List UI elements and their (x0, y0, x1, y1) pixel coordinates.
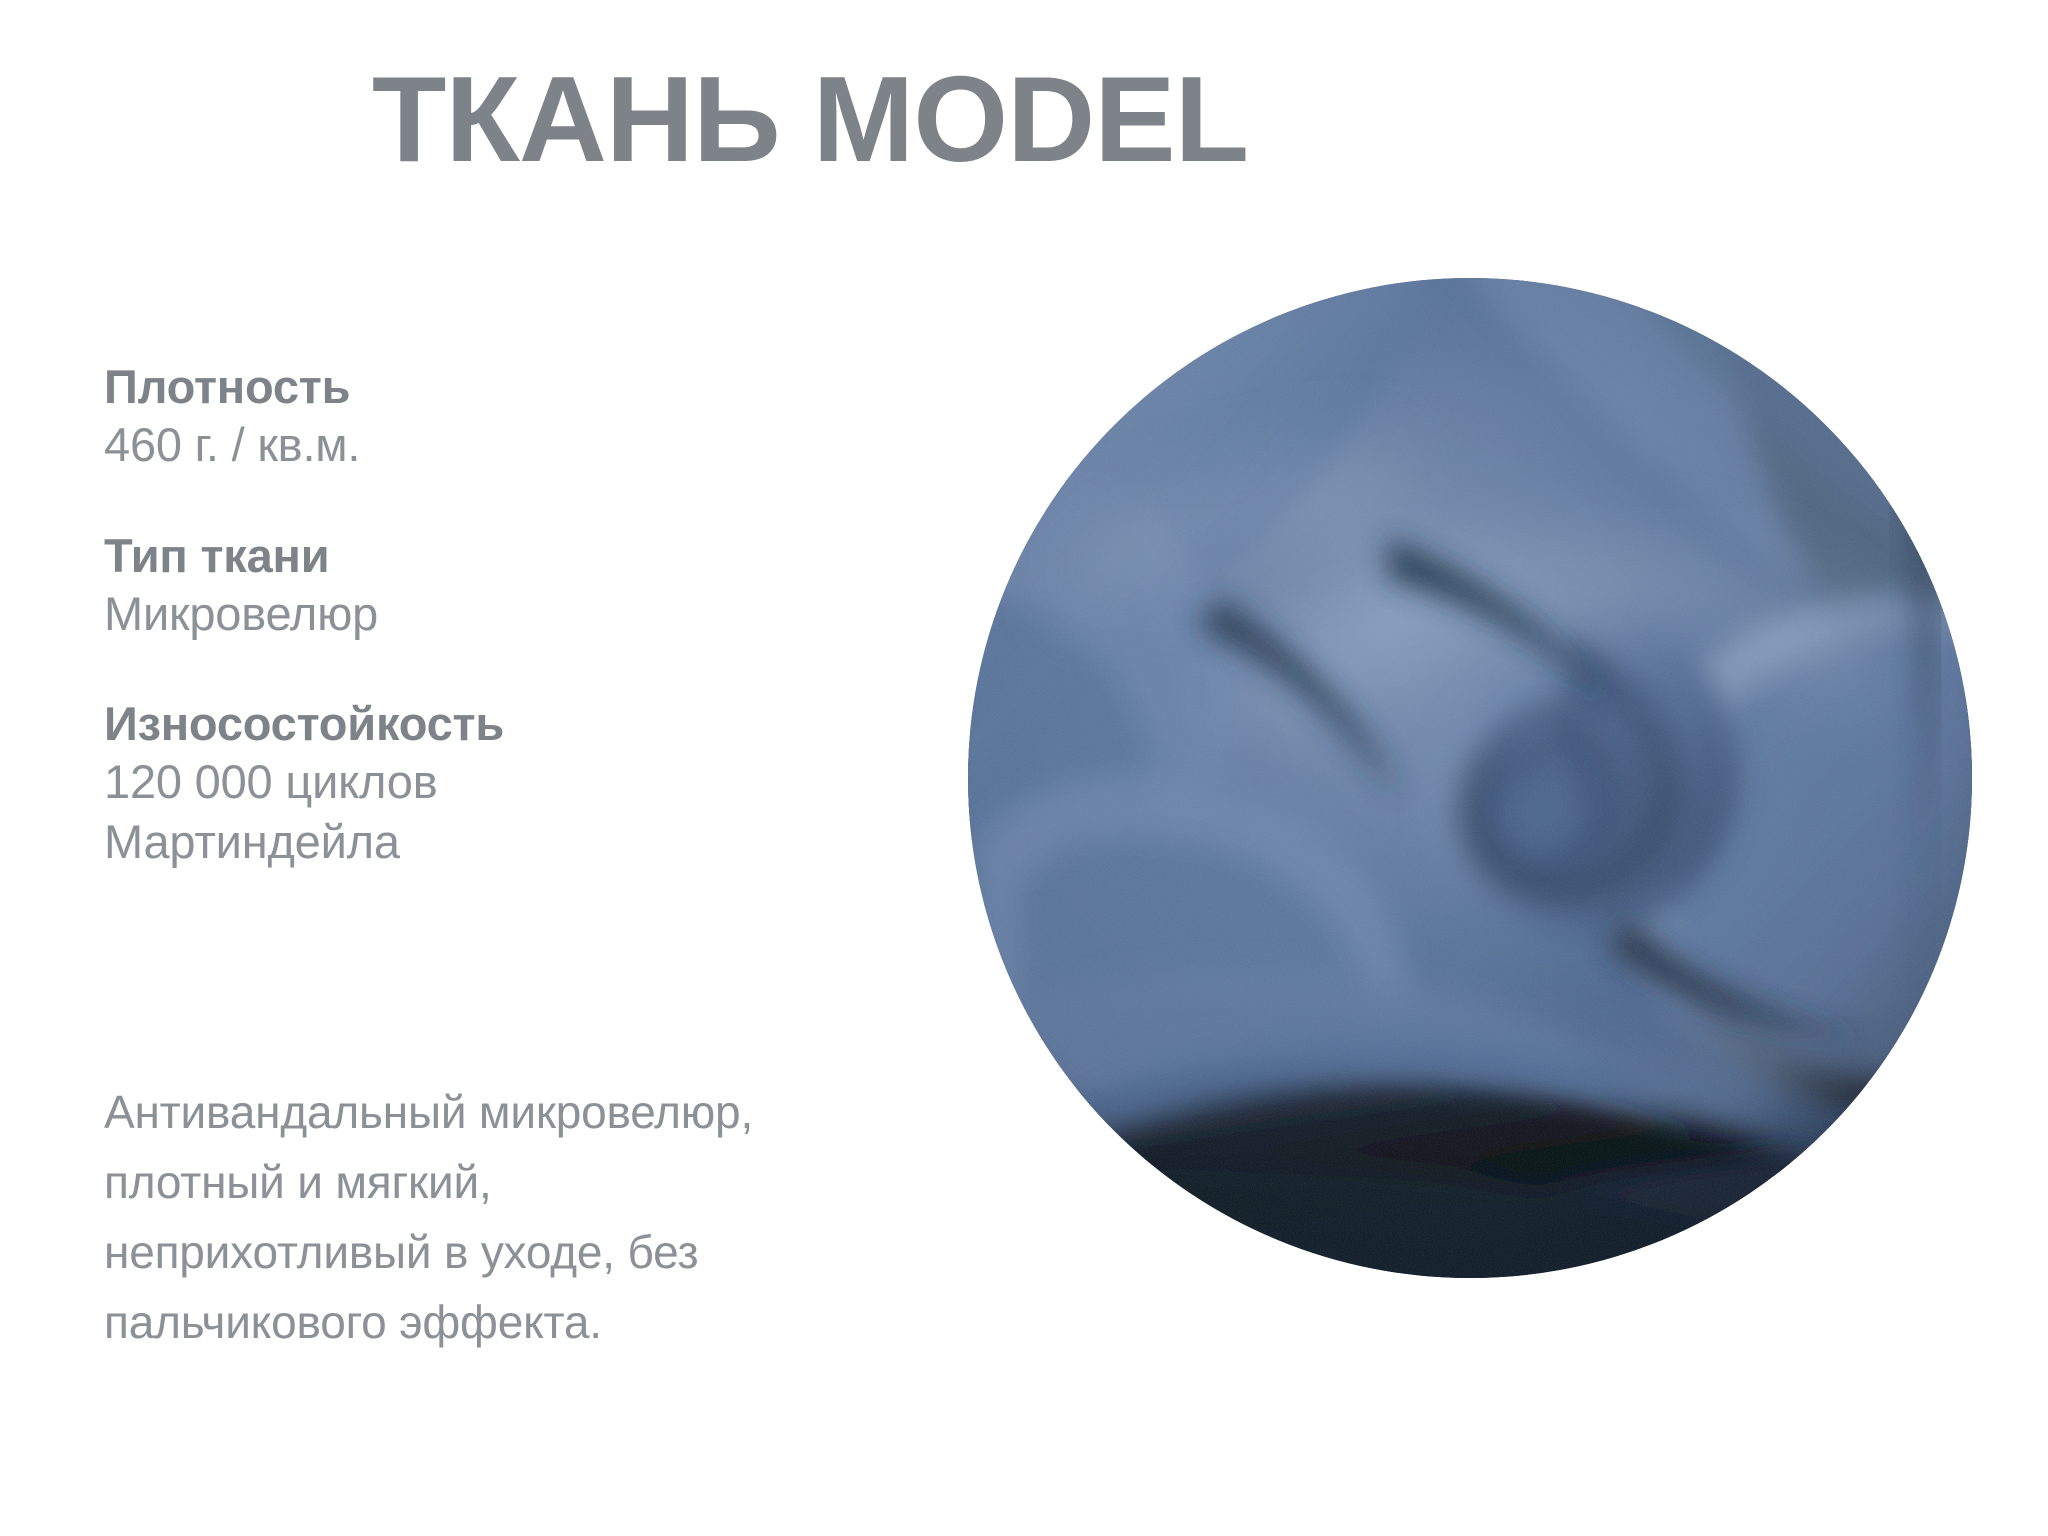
spec-item-density: Плотность 460 г. / кв.м. (104, 358, 894, 475)
spec-value-durability-line1: 120 000 циклов (104, 752, 894, 811)
spec-label-density: Плотность (104, 358, 894, 415)
description-block: Антивандальный микровелюр, плотный и мяг… (104, 1078, 1004, 1358)
description-line-4: пальчикового эффекта. (104, 1288, 1004, 1358)
fabric-swirl-illustration (968, 278, 1972, 1278)
description-line-3: неприхотливый в уходе, без (104, 1218, 1004, 1288)
slide-root: ТКАНЬ MODEL Плотность 460 г. / кв.м. Тип… (0, 0, 2048, 1536)
spec-item-durability: Износостойкость 120 000 циклов Мартиндей… (104, 695, 894, 871)
spec-list: Плотность 460 г. / кв.м. Тип ткани Микро… (104, 358, 894, 871)
fabric-photo-circle (968, 278, 1972, 1278)
spec-label-fabric-type: Тип ткани (104, 527, 894, 584)
description-line-2: плотный и мягкий, (104, 1148, 1004, 1218)
page-title: ТКАНЬ MODEL (0, 52, 1620, 186)
spec-label-durability: Износостойкость (104, 695, 894, 752)
spec-value-fabric-type: Микровелюр (104, 584, 894, 643)
spec-value-density: 460 г. / кв.м. (104, 415, 894, 474)
description-line-1: Антивандальный микровелюр, (104, 1078, 1004, 1148)
spec-value-durability-line2: Мартиндейла (104, 812, 894, 871)
spec-item-fabric-type: Тип ткани Микровелюр (104, 527, 894, 644)
